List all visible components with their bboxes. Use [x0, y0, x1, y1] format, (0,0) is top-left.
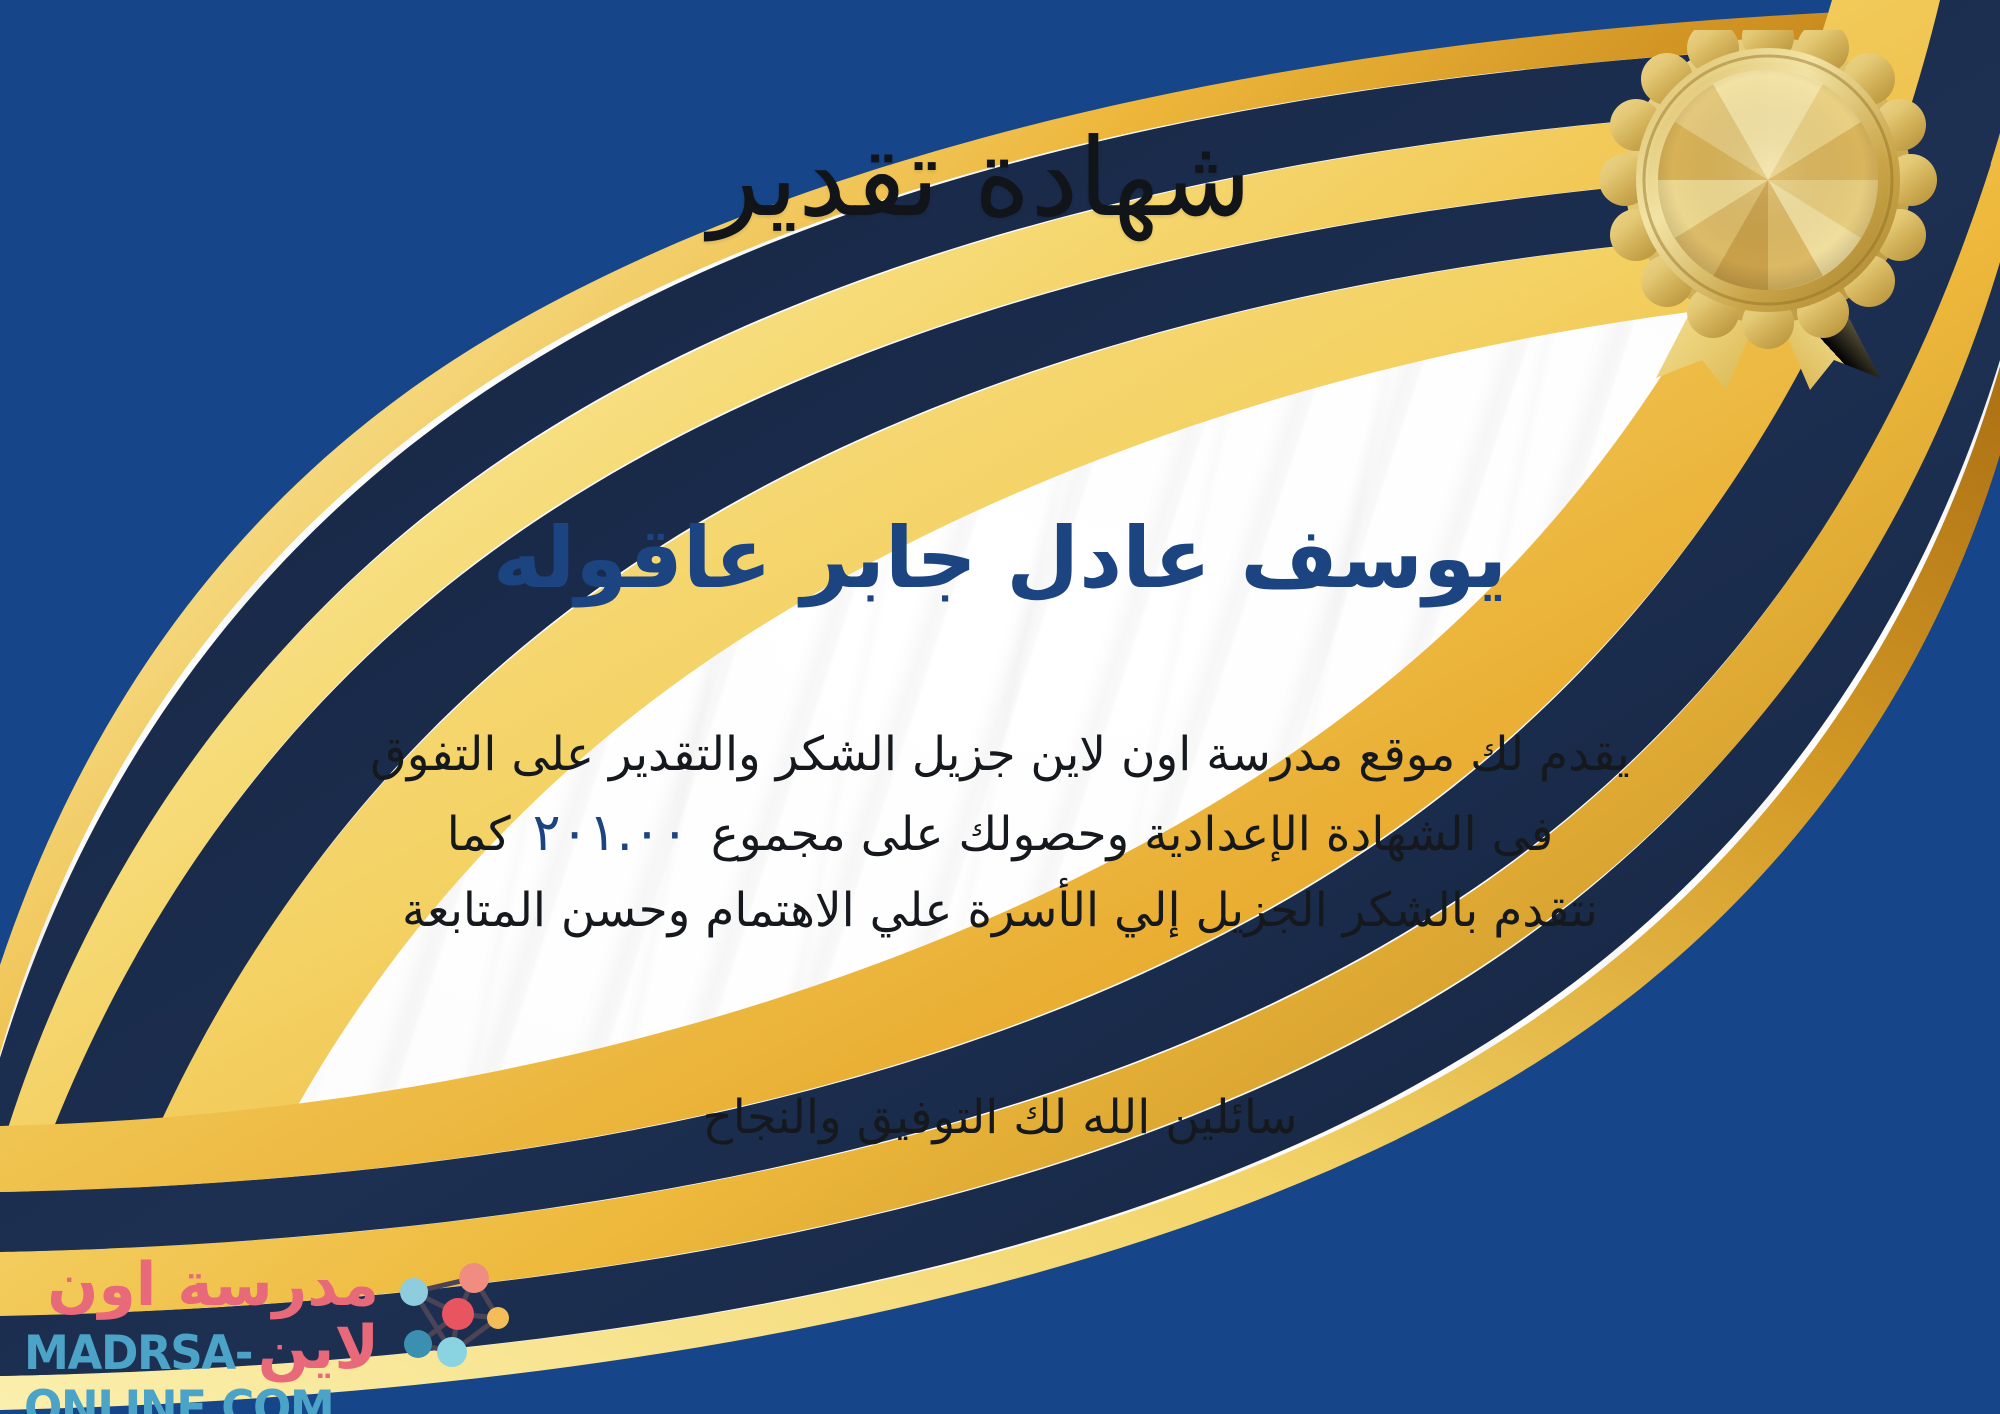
node-yellow — [487, 1307, 509, 1329]
network-nodes-icon — [390, 1256, 512, 1384]
body-line-2-suffix: كما — [447, 807, 511, 862]
certificate-body: يقدم لك موقع مدرسة اون لاين جزيل الشكر و… — [48, 718, 1952, 949]
brand-text-rows: مدرسة اون لاين MADRSA-ONLINE.COM — [24, 1240, 379, 1400]
page-title: شهادة تقدير — [0, 120, 2000, 239]
score-value: ٢٠١.٠٠ — [511, 803, 711, 863]
node-teal — [404, 1330, 432, 1358]
body-line-1: يقدم لك موقع مدرسة اون لاين جزيل الشكر و… — [48, 718, 1952, 792]
brand-logo[interactable]: مدرسة اون لاين MADRSA-ONLINE.COM — [24, 1240, 494, 1400]
body-line-2-prefix: فى الشهادة الإعدادية وحصولك على مجموع — [711, 807, 1553, 862]
node-light-blue — [400, 1278, 428, 1306]
certificate-content: شهادة تقدير يوسف عادل جابر عاقوله يقدم ل… — [0, 0, 2000, 1414]
certificate-canvas: شهادة تقدير يوسف عادل جابر عاقوله يقدم ل… — [0, 0, 2000, 1414]
body-line-3: نتقدم بالشكر الجزيل إلي الأسرة علي الاهت… — [48, 874, 1952, 948]
brand-website-url: MADRSA-ONLINE.COM — [24, 1326, 365, 1414]
closing-line: سائلين الله لك التوفيق والنجاح — [0, 1090, 2000, 1145]
node-cyan — [437, 1337, 467, 1367]
body-line-2: فى الشهادة الإعدادية وحصولك على مجموع٢٠١… — [48, 792, 1952, 874]
recipient-name: يوسف عادل جابر عاقوله — [0, 510, 2000, 607]
node-red — [442, 1298, 474, 1330]
node-salmon — [459, 1263, 489, 1293]
